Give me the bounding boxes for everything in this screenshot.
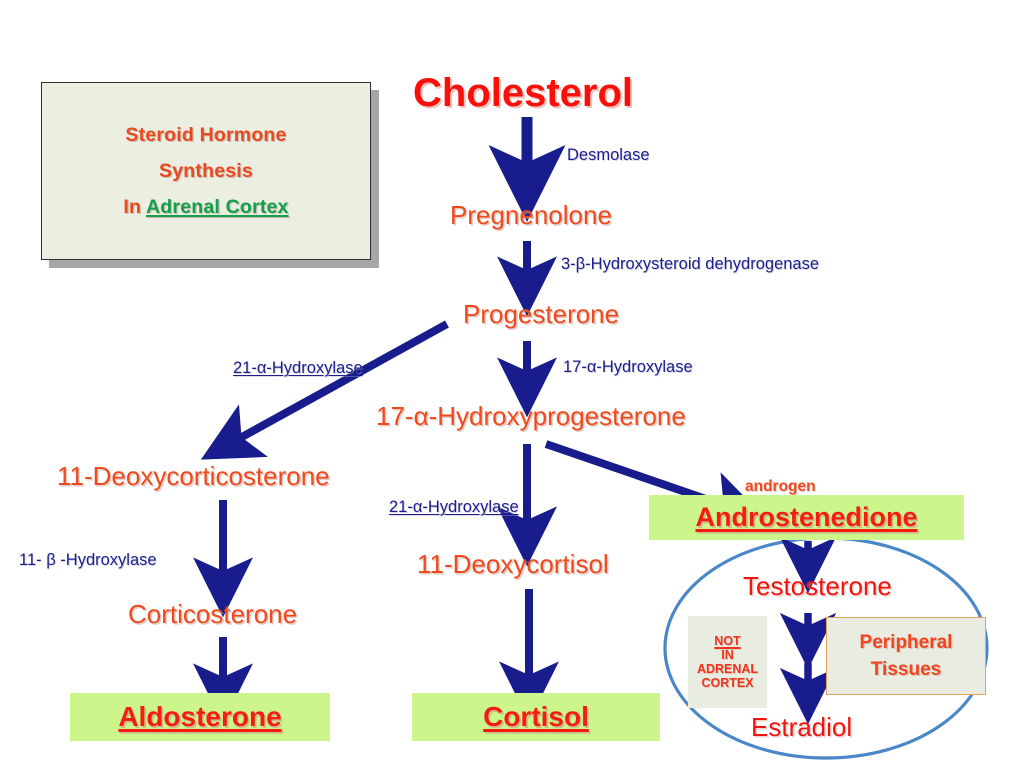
title-line-3-highlight: Adrenal Cortex [146,196,289,218]
product-box-aldosterone: Aldosterone [70,693,330,741]
product-box-androstenedione: Androstenedione [649,495,964,540]
enzyme-11-beta-hydroxylase: 11- β -Hydroxylase [19,551,157,570]
annotation-androgen: androgen [745,478,816,496]
product-label-androstenedione: Androstenedione [695,502,917,533]
note-line-cortex: CORTEX [701,676,753,690]
node-testosterone: Testosterone [743,571,892,602]
title-line-3-prefix: In [123,196,146,218]
node-progesterone: Progesterone [463,299,619,330]
note-line-not: NOT [714,634,740,648]
product-box-cortisol: Cortisol [412,693,660,741]
not-in-adrenal-cortex-note: NOT IN ADRENAL CORTEX [688,616,767,708]
node-estradiol: Estradiol [751,712,852,743]
product-label-aldosterone: Aldosterone [118,701,281,733]
title-line-3: In Adrenal Cortex [123,196,288,219]
title-line-1: Steroid Hormone [125,124,286,147]
enzyme-21-alpha-hydroxylase-middle: 21-α-Hydroxylase [389,498,519,517]
title-line-2: Synthesis [159,160,253,183]
enzyme-17-alpha-hydroxylase: 17-α-Hydroxylase [563,358,693,377]
product-label-cortisol: Cortisol [483,701,589,733]
node-corticosterone: Corticosterone [128,599,297,630]
node-hydroxyprogesterone: 17-α-Hydroxyprogesterone [376,401,686,432]
enzyme-desmolase: Desmolase [567,146,650,165]
node-deoxycortisol: 11-Deoxycortisol [417,549,609,580]
note-line-adrenal: ADRENAL [697,662,758,676]
enzyme-3-beta-hydroxysteroid-dehydrogenase: 3-β-Hydroxysteroid dehydrogenase [561,255,819,274]
peripheral-tissues-box: Peripheral Tissues [826,617,986,695]
peripheral-line-1: Peripheral [860,632,953,654]
note-line-in: IN [721,648,734,662]
peripheral-line-2: Tissues [871,659,941,681]
node-cholesterol: Cholesterol [413,71,633,116]
enzyme-21-alpha-hydroxylase-left: 21-α-Hydroxylase [233,359,363,378]
node-deoxycorticosterone: 11-Deoxycorticosterone [57,461,330,492]
title-card: Steroid Hormone Synthesis In Adrenal Cor… [41,82,371,260]
node-pregnenolone: Pregnenolone [450,200,612,231]
